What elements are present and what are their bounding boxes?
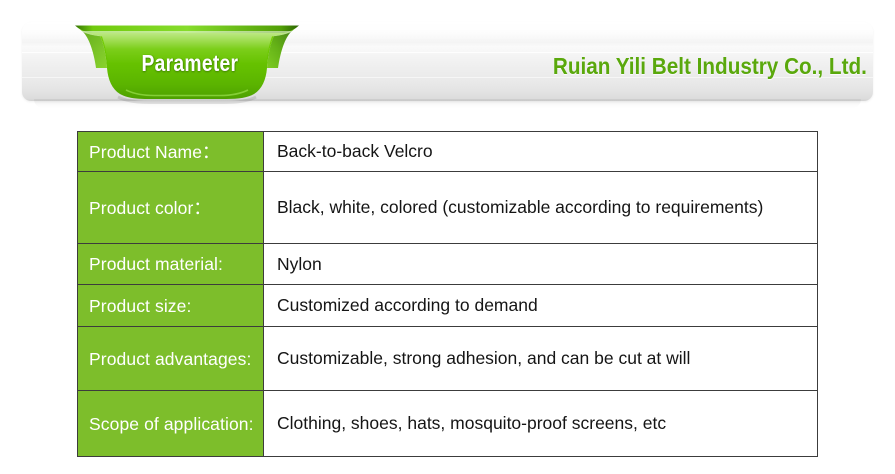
company-name: Ruian Yili Belt Industry Co., Ltd.: [553, 53, 867, 80]
table-row-label: Product advantages:: [78, 327, 264, 391]
table-row: Product size: Customized according to de…: [78, 285, 818, 327]
table-row-value: Customizable, strong adhesion, and can b…: [264, 327, 818, 391]
table-row-value: Nylon: [264, 244, 818, 285]
table-row-value: Clothing, shoes, hats, mosquito-proof sc…: [264, 391, 818, 457]
parameter-tab-shape: [56, 18, 312, 104]
table-row-label: Product color：: [78, 172, 264, 244]
table-row-value: Back-to-back Velcro: [264, 132, 818, 172]
table-row: Product advantages: Customizable, strong…: [78, 327, 818, 391]
table-row-label: Scope of application:: [78, 391, 264, 457]
table-row-value: Customized according to demand: [264, 285, 818, 327]
product-parameter-table: Product Name： Back-to-back Velcro Produc…: [77, 131, 818, 457]
table-row-label: Product Name：: [78, 132, 264, 172]
table-row: Scope of application: Clothing, shoes, h…: [78, 391, 818, 457]
table-row-value: Black, white, colored (customizable acco…: [264, 172, 818, 244]
parameter-tab[interactable]: Parameter: [56, 18, 312, 104]
table-row: Product material: Nylon: [78, 244, 818, 285]
page-root: Parameter Ruian Yili Belt Industry Co., …: [0, 0, 895, 474]
table-row: Product color： Black, white, colored (cu…: [78, 172, 818, 244]
table-row-label: Product material:: [78, 244, 264, 285]
table-row: Product Name： Back-to-back Velcro: [78, 132, 818, 172]
page-header: Parameter Ruian Yili Belt Industry Co., …: [0, 0, 895, 118]
table-row-label: Product size:: [78, 285, 264, 327]
